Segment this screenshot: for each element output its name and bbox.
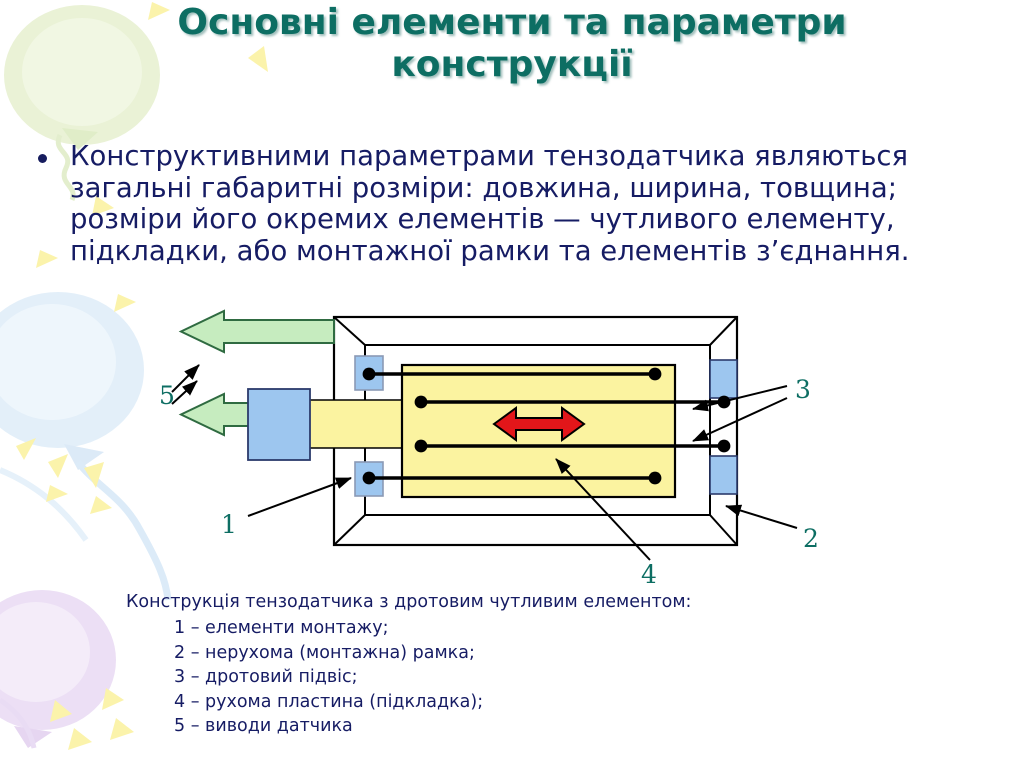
legend-item-5: 5 – виводи датчика — [174, 714, 483, 739]
figure-caption-title: Конструкція тензодатчика з дротовим чутл… — [126, 590, 691, 615]
strain-gauge-diagram: 5 1 3 2 4 — [110, 300, 870, 600]
legend-item-2: 2 – нерухома (монтажна) рамка; — [174, 641, 483, 666]
pad-top-right — [710, 360, 737, 398]
legend-item-4: 4 – рухома пластина (підкладка); — [174, 690, 483, 715]
legend-item-3: 3 – дротовий підвіс; — [174, 665, 483, 690]
figure-caption-legend: 1 – елементи монтажу; 2 – нерухома (монт… — [174, 616, 483, 739]
bullet-marker-icon — [38, 154, 47, 163]
pad-bottom-right — [710, 456, 737, 494]
slide: Основні елементи та параметри конструкці… — [0, 0, 1024, 767]
connector-block — [248, 389, 310, 460]
legend-item-1: 1 – елементи монтажу; — [174, 616, 483, 641]
slide-content: Основні елементи та параметри конструкці… — [0, 0, 1024, 767]
callout-label-1: 1 — [221, 510, 237, 539]
bullet-text: Конструктивними параметрами тензодатчика… — [70, 141, 990, 267]
lead-arrow-top-icon — [181, 311, 334, 352]
callout-label-4: 4 — [641, 560, 657, 589]
callout-label-5: 5 — [159, 381, 175, 410]
callout-label-3: 3 — [795, 375, 811, 404]
page-title: Основні елементи та параметри конструкці… — [60, 2, 964, 86]
callout-label-2: 2 — [803, 524, 819, 553]
